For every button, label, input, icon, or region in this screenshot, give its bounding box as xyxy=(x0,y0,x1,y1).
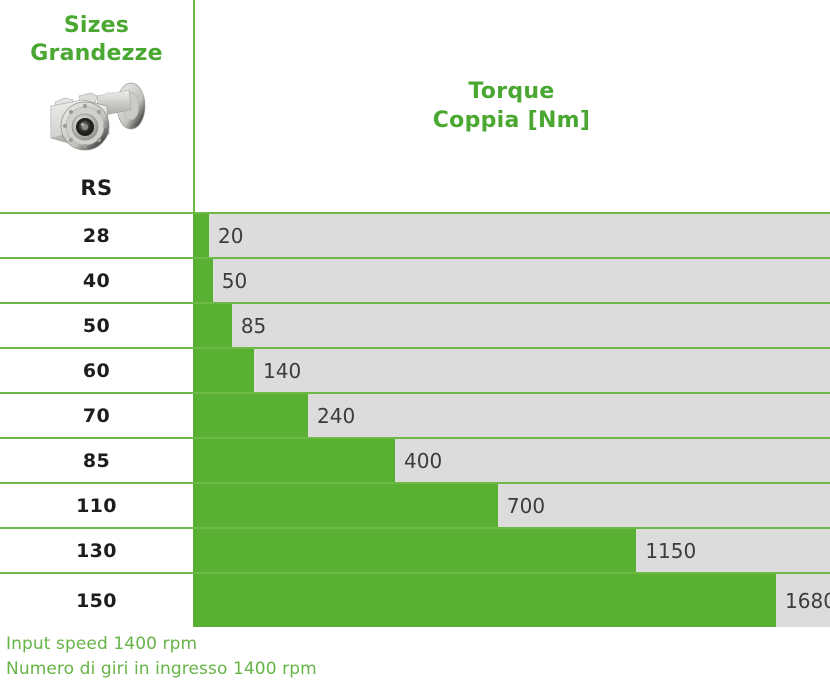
torque-value-label: 85 xyxy=(232,304,266,347)
torque-bar xyxy=(195,529,636,572)
torque-size-chart: Sizes Grandezze xyxy=(0,0,830,700)
torque-bar xyxy=(195,394,308,437)
torque-value-label: 700 xyxy=(498,484,545,527)
chart-header: Sizes Grandezze xyxy=(0,0,830,212)
torque-header-cell: Torque Coppia [Nm] xyxy=(193,0,830,212)
sizes-title-it: Grandezze xyxy=(30,40,162,68)
worm-gearbox-icon xyxy=(39,76,155,154)
bar-track: 240 xyxy=(195,394,830,437)
torque-value-label: 20 xyxy=(209,214,243,257)
chart-row: 1501680 xyxy=(0,572,830,627)
bar-track: 700 xyxy=(195,484,830,527)
bar-track: 85 xyxy=(195,304,830,347)
torque-title-en: Torque xyxy=(433,78,591,107)
torque-value-label: 140 xyxy=(254,349,301,392)
bar-track: 400 xyxy=(195,439,830,482)
chart-row: 5085 xyxy=(0,302,830,347)
size-label: 40 xyxy=(0,259,193,302)
torque-title-it: Coppia [Nm] xyxy=(433,107,591,136)
size-label: 110 xyxy=(0,484,193,527)
sizes-title-en: Sizes xyxy=(30,12,162,40)
torque-bar xyxy=(195,574,776,627)
header-vertical-divider xyxy=(193,0,195,215)
torque-bar xyxy=(195,304,232,347)
sizes-title: Sizes Grandezze xyxy=(30,12,162,68)
torque-value-label: 400 xyxy=(395,439,442,482)
torque-value-label: 1150 xyxy=(636,529,696,572)
torque-bar xyxy=(195,349,254,392)
chart-rows: 2820405050856014070240854001107001301150… xyxy=(0,212,830,627)
footer-line-it: Numero di giri in ingresso 1400 rpm xyxy=(6,657,830,682)
bar-track: 1150 xyxy=(195,529,830,572)
size-label: 150 xyxy=(0,574,193,627)
chart-row: 60140 xyxy=(0,347,830,392)
torque-bar xyxy=(195,439,395,482)
bar-track: 1680 xyxy=(195,574,830,627)
footer-line-en: Input speed 1400 rpm xyxy=(6,632,830,657)
chart-row: 110700 xyxy=(0,482,830,527)
torque-value-label: 50 xyxy=(213,259,247,302)
torque-title: Torque Coppia [Nm] xyxy=(433,78,591,135)
chart-row: 70240 xyxy=(0,392,830,437)
product-code-label: RS xyxy=(0,176,193,200)
size-label: 70 xyxy=(0,394,193,437)
chart-row: 85400 xyxy=(0,437,830,482)
torque-bar xyxy=(195,214,209,257)
size-label: 130 xyxy=(0,529,193,572)
chart-row: 1301150 xyxy=(0,527,830,572)
size-label: 50 xyxy=(0,304,193,347)
bar-track: 20 xyxy=(195,214,830,257)
chart-row: 4050 xyxy=(0,257,830,302)
torque-value-label: 240 xyxy=(308,394,355,437)
chart-footer: Input speed 1400 rpm Numero di giri in i… xyxy=(0,630,830,700)
bar-track: 50 xyxy=(195,259,830,302)
bar-track: 140 xyxy=(195,349,830,392)
sizes-header-cell: Sizes Grandezze xyxy=(0,0,193,212)
torque-bar xyxy=(195,484,498,527)
torque-value-label: 1680 xyxy=(776,574,830,627)
size-label: 60 xyxy=(0,349,193,392)
size-label: 85 xyxy=(0,439,193,482)
torque-bar xyxy=(195,259,213,302)
chart-row: 2820 xyxy=(0,212,830,257)
size-label: 28 xyxy=(0,214,193,257)
